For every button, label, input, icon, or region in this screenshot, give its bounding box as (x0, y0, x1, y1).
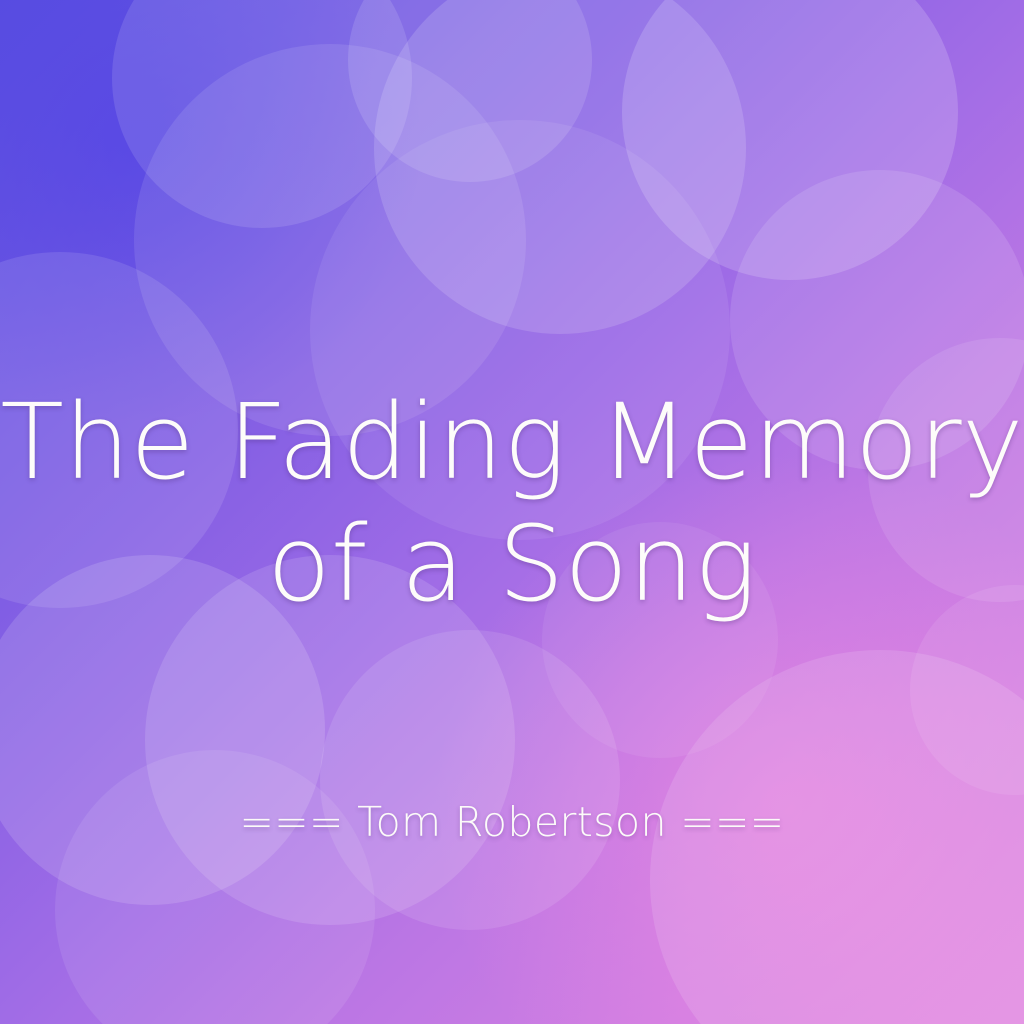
cover-content: The Fading Memory of a Song === Tom Robe… (0, 0, 1024, 1024)
cover-title: The Fading Memory of a Song (0, 382, 1024, 625)
book-cover: The Fading Memory of a Song === Tom Robe… (0, 0, 1024, 1024)
cover-byline: === Tom Robertson === (0, 798, 1024, 846)
